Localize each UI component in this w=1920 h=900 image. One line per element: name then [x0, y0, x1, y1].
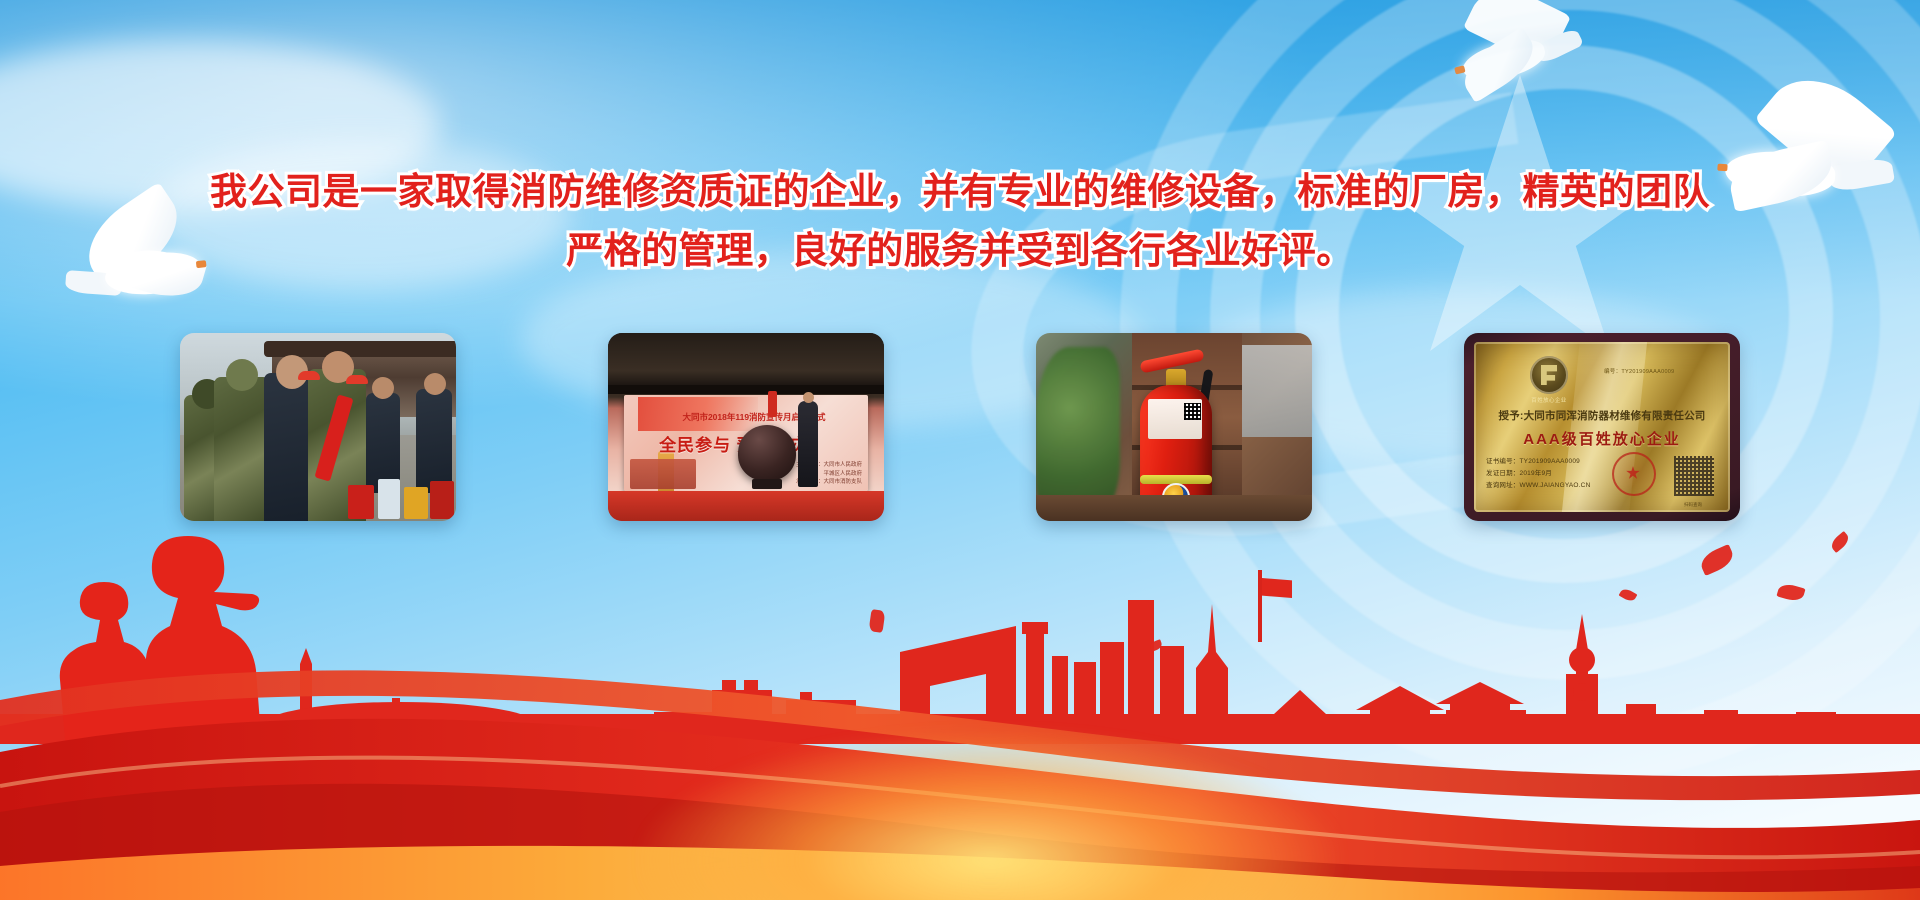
plaque-meta: 证书编号：TY201909AAA0009 发证日期：2019年9月 查询网址：W… [1486, 456, 1590, 492]
promo-banner: 我公司是一家取得消防维修资质证的企业，并有专业的维修设备，标准的厂房，精英的团队… [0, 0, 1920, 900]
headline-line-1: 我公司是一家取得消防维修资质证的企业，并有专业的维修设备，标准的厂房，精英的团队 [0, 168, 1920, 215]
official-stamp-icon [1612, 452, 1656, 496]
photo-card-inspection[interactable] [180, 333, 456, 521]
equipment-item [378, 479, 400, 519]
headline-line-2: 严格的管理，良好的服务并受到各行各业好评。 [0, 227, 1920, 274]
qr-code-icon [1184, 403, 1201, 420]
person-head [372, 377, 394, 399]
gong-object [738, 425, 796, 481]
red-cap [298, 371, 320, 380]
plaque-meta-line: 查询网址：WWW.JAIANGYAO.CN [1486, 480, 1590, 492]
stage-front [608, 491, 884, 521]
person-silhouette [366, 393, 400, 493]
organizer-line: 平城区人民政府 [823, 471, 862, 477]
extinguisher-item [430, 481, 454, 519]
desk-surface [1036, 495, 1312, 521]
person-head [424, 373, 446, 395]
photo-strip: 大同市2018年119消防宣传月启动仪式 全民参与 预防火灾 主办单位：大同市人… [180, 333, 1740, 523]
red-cap [346, 375, 368, 384]
speaker-person [798, 401, 818, 487]
award-plaque: 百姓放心企业 编号：TY201909AAA0009 授予:大同市同浑消防器材维修… [1474, 342, 1730, 512]
equipment-item [404, 487, 428, 519]
photo-card-award[interactable]: 百姓放心企业 编号：TY201909AAA0009 授予:大同市同浑消防器材维修… [1464, 333, 1740, 521]
plaque-grant-line: 授予:大同市同浑消防器材维修有限责任公司 [1474, 408, 1730, 423]
headline-text: 我公司是一家取得消防维修资质证的企业，并有专业的维修设备，标准的厂房，精英的团队… [0, 168, 1920, 275]
plaque-meta-line: 发证日期：2019年9月 [1486, 468, 1590, 480]
photo-card-ceremony[interactable]: 大同市2018年119消防宣传月启动仪式 全民参与 预防火灾 主办单位：大同市人… [608, 333, 884, 521]
ceremony-banner-top: 大同市2018年119消防宣传月启动仪式 [654, 411, 854, 423]
person-head [226, 359, 258, 391]
qr-caption: 扫码查询 [1672, 502, 1714, 508]
person-silhouette [214, 377, 270, 521]
qr-code-icon [1674, 456, 1714, 496]
emblem-caption: 百姓放心企业 [1516, 396, 1582, 404]
window-area [1242, 345, 1312, 437]
extinguisher-item [348, 485, 374, 519]
plaque-meta-line: 证书编号：TY201909AAA0009 [1486, 456, 1590, 468]
temple-roof [608, 333, 884, 387]
plaque-title: AAA级百姓放心企业 [1474, 428, 1730, 449]
gong-stand [752, 479, 782, 489]
plaque-cert-no-top: 编号：TY201909AAA0009 [1604, 367, 1675, 375]
extinguisher-item [768, 391, 777, 417]
person-silhouette [416, 389, 452, 493]
tiananmen-graphic [630, 459, 696, 489]
certification-emblem-icon [1530, 356, 1568, 394]
photo-card-extinguisher[interactable] [1036, 333, 1312, 521]
